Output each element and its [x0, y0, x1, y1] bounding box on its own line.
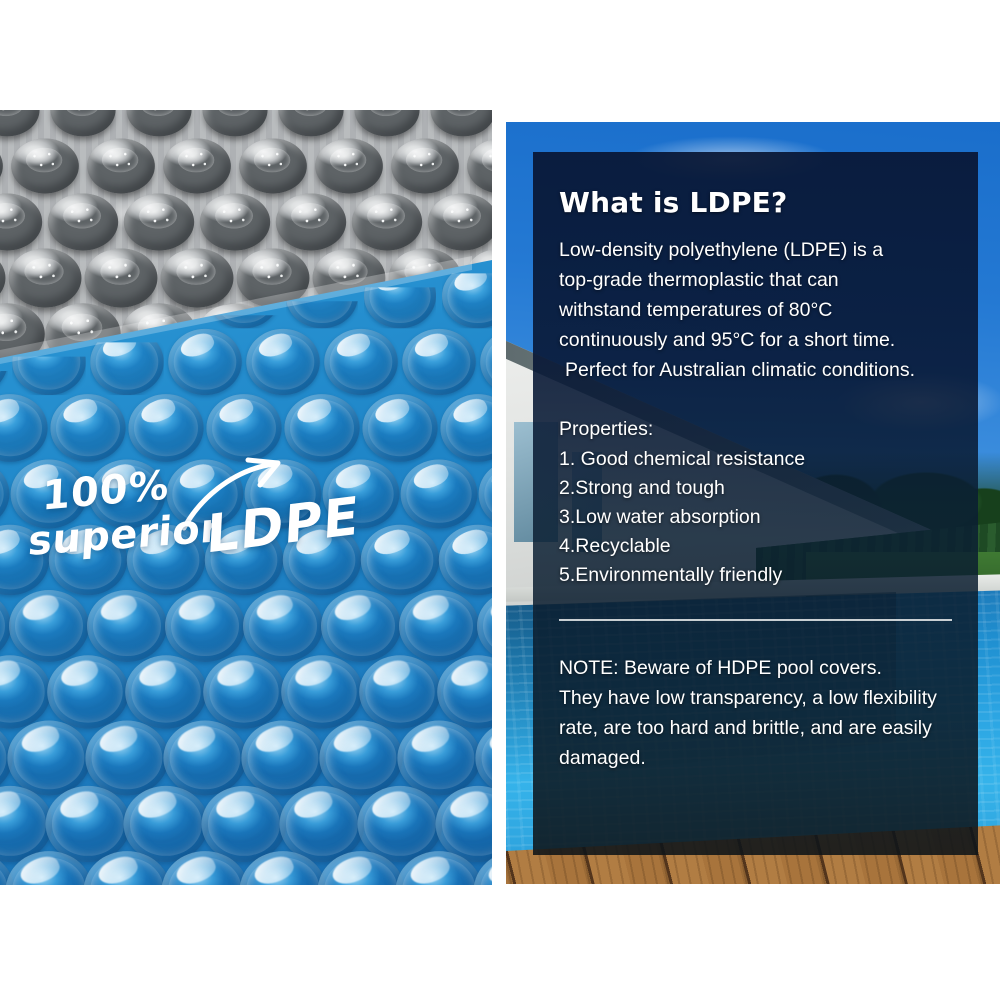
blue-bubble	[246, 329, 320, 395]
properties-list: 1. Good chemical resistance 2.Strong and…	[559, 445, 952, 590]
blue-bubble	[168, 329, 242, 395]
silver-bubble	[48, 194, 118, 251]
blue-bubble	[358, 786, 443, 862]
silver-bubble	[11, 139, 79, 194]
blue-bubble	[401, 459, 478, 528]
blue-bubble	[85, 721, 168, 796]
list-item: 1. Good chemical resistance	[559, 445, 952, 474]
note-block: NOTE: Beware of HDPE pool covers. They h…	[559, 653, 952, 773]
blue-bubble	[9, 590, 89, 662]
paragraph-line: Low-density polyethylene (LDPE) is a	[559, 235, 952, 265]
list-item: 5.Environmentally friendly	[559, 561, 952, 590]
blue-bubble	[206, 394, 281, 462]
blue-bubble	[50, 394, 125, 462]
blue-bubble	[321, 590, 401, 662]
blue-bubble	[128, 394, 203, 462]
paragraph-line: top-grade thermoplastic that can	[559, 265, 952, 295]
blue-bubble	[163, 721, 246, 796]
silver-bubble	[391, 139, 459, 194]
silver-bubble	[428, 194, 492, 251]
note-line: rate, are too hard and brittle, and are …	[559, 713, 952, 743]
blue-bubble	[205, 525, 283, 596]
blue-bubble	[167, 459, 244, 528]
blue-bubble	[89, 459, 166, 528]
blue-bubble	[87, 590, 167, 662]
blue-bubble	[125, 655, 207, 728]
silver-bubble	[161, 248, 234, 307]
silver-bubble	[163, 139, 231, 194]
note-line: They have low transparency, a low flexib…	[559, 683, 952, 713]
properties-label: Properties:	[559, 415, 952, 444]
silver-bubble	[276, 194, 346, 251]
blue-bubble	[243, 590, 323, 662]
blue-bubble	[241, 721, 324, 796]
blue-bubble	[11, 459, 88, 528]
blue-bubble	[46, 786, 131, 862]
blue-bubble	[402, 329, 476, 395]
info-card: What is LDPE? Low-density polyethylene (…	[533, 152, 978, 855]
blue-bubble	[323, 459, 400, 528]
list-item: 3.Low water absorption	[559, 503, 952, 532]
paragraph-line: continuously and 95°C for a short time.	[559, 325, 952, 355]
blue-bubble	[324, 329, 398, 395]
card-paragraph: Low-density polyethylene (LDPE) is a top…	[559, 235, 952, 385]
card-divider	[559, 619, 952, 621]
card-title: What is LDPE?	[559, 186, 952, 219]
left-product-image: 100% superior LDPE	[0, 110, 492, 885]
silver-bubble	[85, 248, 158, 307]
properties-block: Properties: 1. Good chemical resistance …	[559, 415, 952, 590]
silver-bubble	[200, 194, 270, 251]
silver-bubble	[9, 248, 82, 307]
paragraph-line: Perfect for Australian climatic conditio…	[559, 355, 952, 385]
blue-bubble	[280, 786, 365, 862]
paragraph-line: withstand temperatures of 80°C	[559, 295, 952, 325]
blue-bubble	[399, 590, 479, 662]
blue-bubble	[245, 459, 322, 528]
list-item: 2.Strong and tough	[559, 474, 952, 503]
blue-bubble	[362, 394, 437, 462]
blue-bubble	[281, 655, 363, 728]
silver-bubble	[352, 194, 422, 251]
blue-bubble	[49, 525, 127, 596]
blue-bubble	[397, 721, 480, 796]
blue-bubble	[7, 721, 90, 796]
blue-bubble	[202, 786, 287, 862]
silver-bubble	[315, 139, 383, 194]
blue-bubble	[284, 394, 359, 462]
note-line: damaged.	[559, 743, 952, 773]
blue-bubble	[203, 655, 285, 728]
note-line: NOTE: Beware of HDPE pool covers.	[559, 653, 952, 683]
blue-bubble	[165, 590, 245, 662]
blue-bubble	[124, 786, 209, 862]
blue-bubble	[319, 721, 402, 796]
right-info-image: What is LDPE? Low-density polyethylene (…	[506, 122, 1000, 884]
silver-bubble	[239, 139, 307, 194]
infographic-canvas: 100% superior LDPE What is LDPE? Low-den…	[0, 0, 1000, 1000]
blue-bubble	[361, 525, 439, 596]
blue-bubble	[127, 525, 205, 596]
silver-bubble	[87, 139, 155, 194]
blue-bubble	[47, 655, 129, 728]
blue-bubble	[283, 525, 361, 596]
list-item: 4.Recyclable	[559, 532, 952, 561]
silver-bubble	[124, 194, 194, 251]
blue-bubble	[359, 655, 441, 728]
